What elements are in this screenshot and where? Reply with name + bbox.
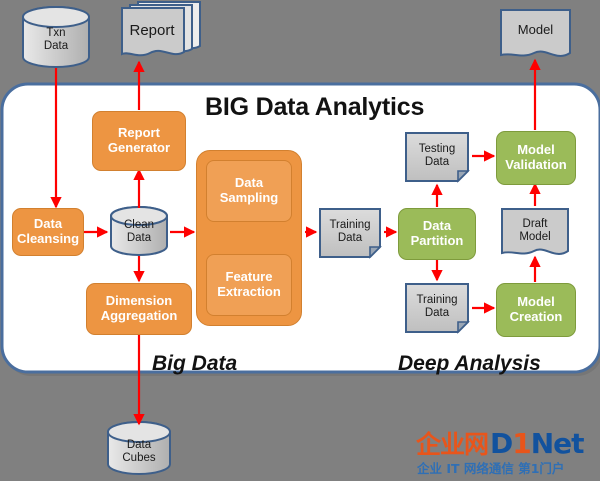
diagram-canvas: BIG Data Analytics Big Data Deep Analysi… <box>0 0 600 481</box>
data-partition-line2: Partition <box>411 234 464 249</box>
txn-data-line1: Txn <box>46 27 65 40</box>
training-data-2-line2: Data <box>425 307 449 320</box>
node-report-generator[interactable]: Report Generator <box>92 111 186 171</box>
node-testing-data: Testing Data <box>406 134 468 178</box>
report-generator-line2: Generator <box>108 141 170 156</box>
model-creation-line1: Model <box>517 295 555 310</box>
report-label: Report <box>129 23 174 40</box>
node-data-partition[interactable]: Data Partition <box>398 208 476 260</box>
testing-data-line1: Testing <box>419 143 455 156</box>
model-creation-line2: Creation <box>510 310 563 325</box>
dimension-aggregation-line1: Dimension <box>106 294 172 309</box>
logo-word-net: Net <box>531 427 584 460</box>
section-label-deep-analysis: Deep Analysis <box>398 352 541 376</box>
feature-extraction-line2: Extraction <box>217 285 281 300</box>
node-data-sampling[interactable]: Data Sampling <box>206 160 292 222</box>
model-label: Model <box>518 23 553 38</box>
data-partition-line1: Data <box>423 219 451 234</box>
node-model: Model <box>501 18 570 42</box>
page-title: BIG Data Analytics <box>205 93 424 122</box>
draft-model-line1: Draft <box>523 218 548 231</box>
section-label-big-data: Big Data <box>152 352 237 376</box>
training-data-2-line1: Training <box>416 294 457 307</box>
node-txn-data: Txn Data <box>23 18 89 62</box>
clean-data-line1: Clean <box>124 219 154 232</box>
node-training-data-1: Training Data <box>320 210 380 254</box>
logo-tagline: 企业 IT 网络通信 第1门户 <box>417 458 564 477</box>
report-generator-line1: Report <box>118 126 160 141</box>
txn-data-line2: Data <box>44 40 68 53</box>
node-feature-extraction[interactable]: Feature Extraction <box>206 254 292 316</box>
logo-d1net: D1Net <box>490 427 584 460</box>
training-data-1-line2: Data <box>338 232 362 245</box>
watermark-logo: 企业网D1Net 企业 IT 网络通信 第1门户 <box>416 427 596 477</box>
node-model-creation[interactable]: Model Creation <box>496 283 576 337</box>
data-cleansing-line2: Cleansing <box>17 232 79 247</box>
node-data-cubes: Data Cubes <box>108 434 170 470</box>
data-sampling-line1: Data <box>235 176 263 191</box>
model-validation-line1: Model <box>517 143 555 158</box>
logo-row-brand: 企业网D1Net <box>416 427 584 459</box>
data-sampling-line2: Sampling <box>220 191 279 206</box>
model-validation-line2: Validation <box>505 158 566 173</box>
data-cubes-line1: Data <box>127 439 151 452</box>
feature-extraction-line1: Feature <box>226 270 273 285</box>
node-training-data-2: Training Data <box>406 285 468 329</box>
testing-data-line2: Data <box>425 156 449 169</box>
node-data-cleansing[interactable]: Data Cleansing <box>12 208 84 256</box>
dimension-aggregation-line2: Aggregation <box>101 309 178 324</box>
training-data-1-line1: Training <box>329 219 370 232</box>
data-cleansing-line1: Data <box>34 217 62 232</box>
node-draft-model: Draft Model <box>502 211 568 251</box>
data-cubes-line2: Cubes <box>122 452 155 465</box>
node-model-validation[interactable]: Model Validation <box>496 131 576 185</box>
draft-model-line2: Model <box>519 231 550 244</box>
node-dimension-aggregation[interactable]: Dimension Aggregation <box>86 283 192 335</box>
logo-digit-one: 1 <box>512 427 530 460</box>
logo-cn-brand: 企业网 <box>416 425 488 461</box>
node-report: Report <box>120 18 184 44</box>
clean-data-line2: Data <box>127 232 151 245</box>
node-clean-data: Clean Data <box>111 214 167 250</box>
logo-letter-d: D <box>490 427 512 460</box>
